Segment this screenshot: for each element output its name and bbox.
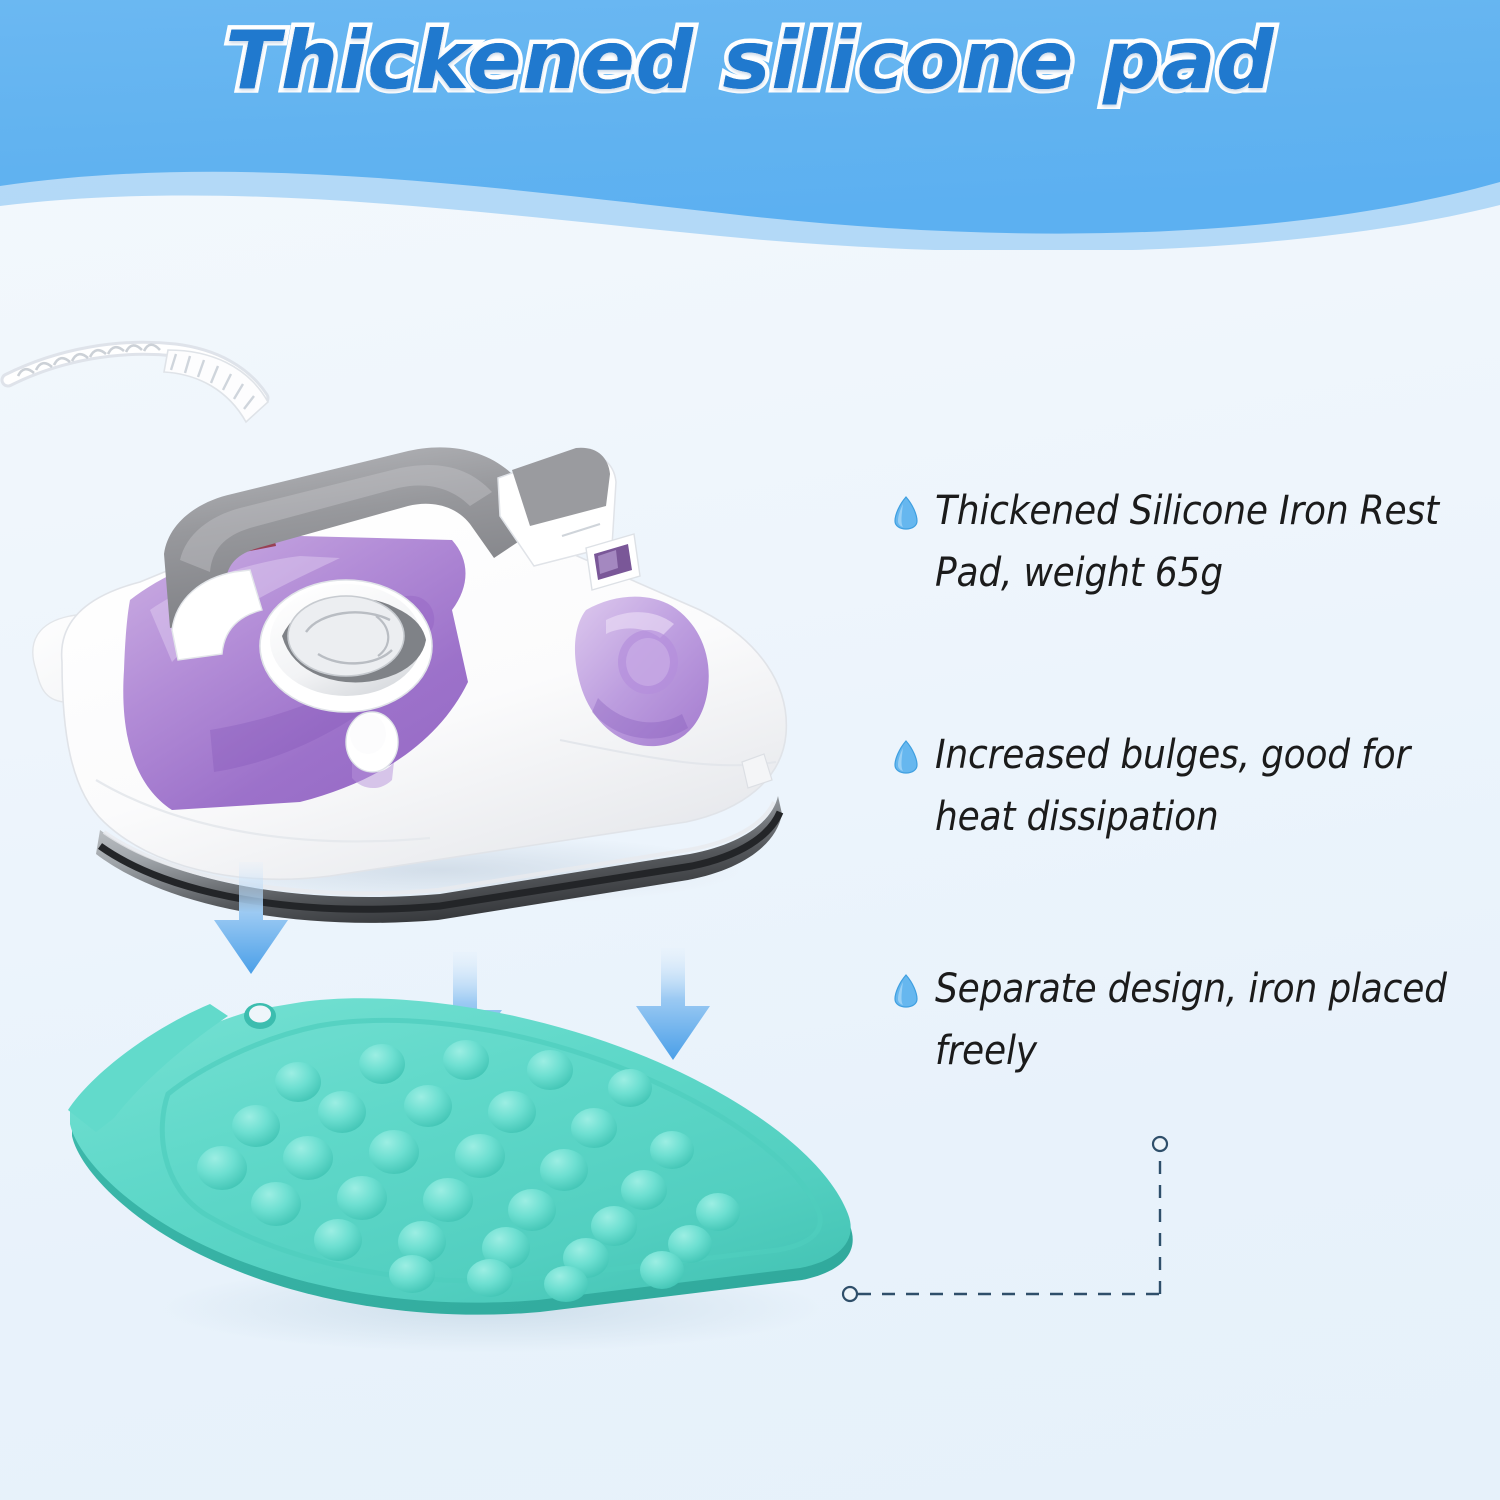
dimension-callout [830,1130,1210,1310]
callout-endpoint-top [1153,1137,1167,1151]
infographic-page: Thickened silicone pad Thickened silicon… [0,0,1500,1500]
spray-nozzle-button[interactable] [346,712,398,788]
iron-drop-icon [893,740,919,774]
list-item: Separate design, iron placed freely [893,958,1483,1082]
list-item-label: Thickened Silicone Iron Rest Pad, weight… [935,480,1483,604]
iron-drop-icon [893,496,919,530]
list-item: Increased bulges, good for heat dissipat… [893,724,1483,848]
hanging-hole [244,1003,276,1029]
iron-drop-icon [893,974,919,1008]
steam-control-dial[interactable] [260,580,432,712]
list-item-label: Increased bulges, good for heat dissipat… [935,724,1483,848]
list-item: Thickened Silicone Iron Rest Pad, weight… [893,480,1483,604]
page-title: Thickened silicone pad [0,14,1500,107]
list-item-label: Separate design, iron placed freely [935,958,1483,1082]
header-banner: Thickened silicone pad Thickened silicon… [0,0,1500,250]
power-cord-icon [8,345,268,422]
silicone-pad-illustration [60,960,880,1365]
steam-iron-illustration [0,310,880,935]
callout-endpoint-left [843,1287,857,1301]
feature-list: Thickened Silicone Iron Rest Pad, weight… [893,480,1483,1082]
